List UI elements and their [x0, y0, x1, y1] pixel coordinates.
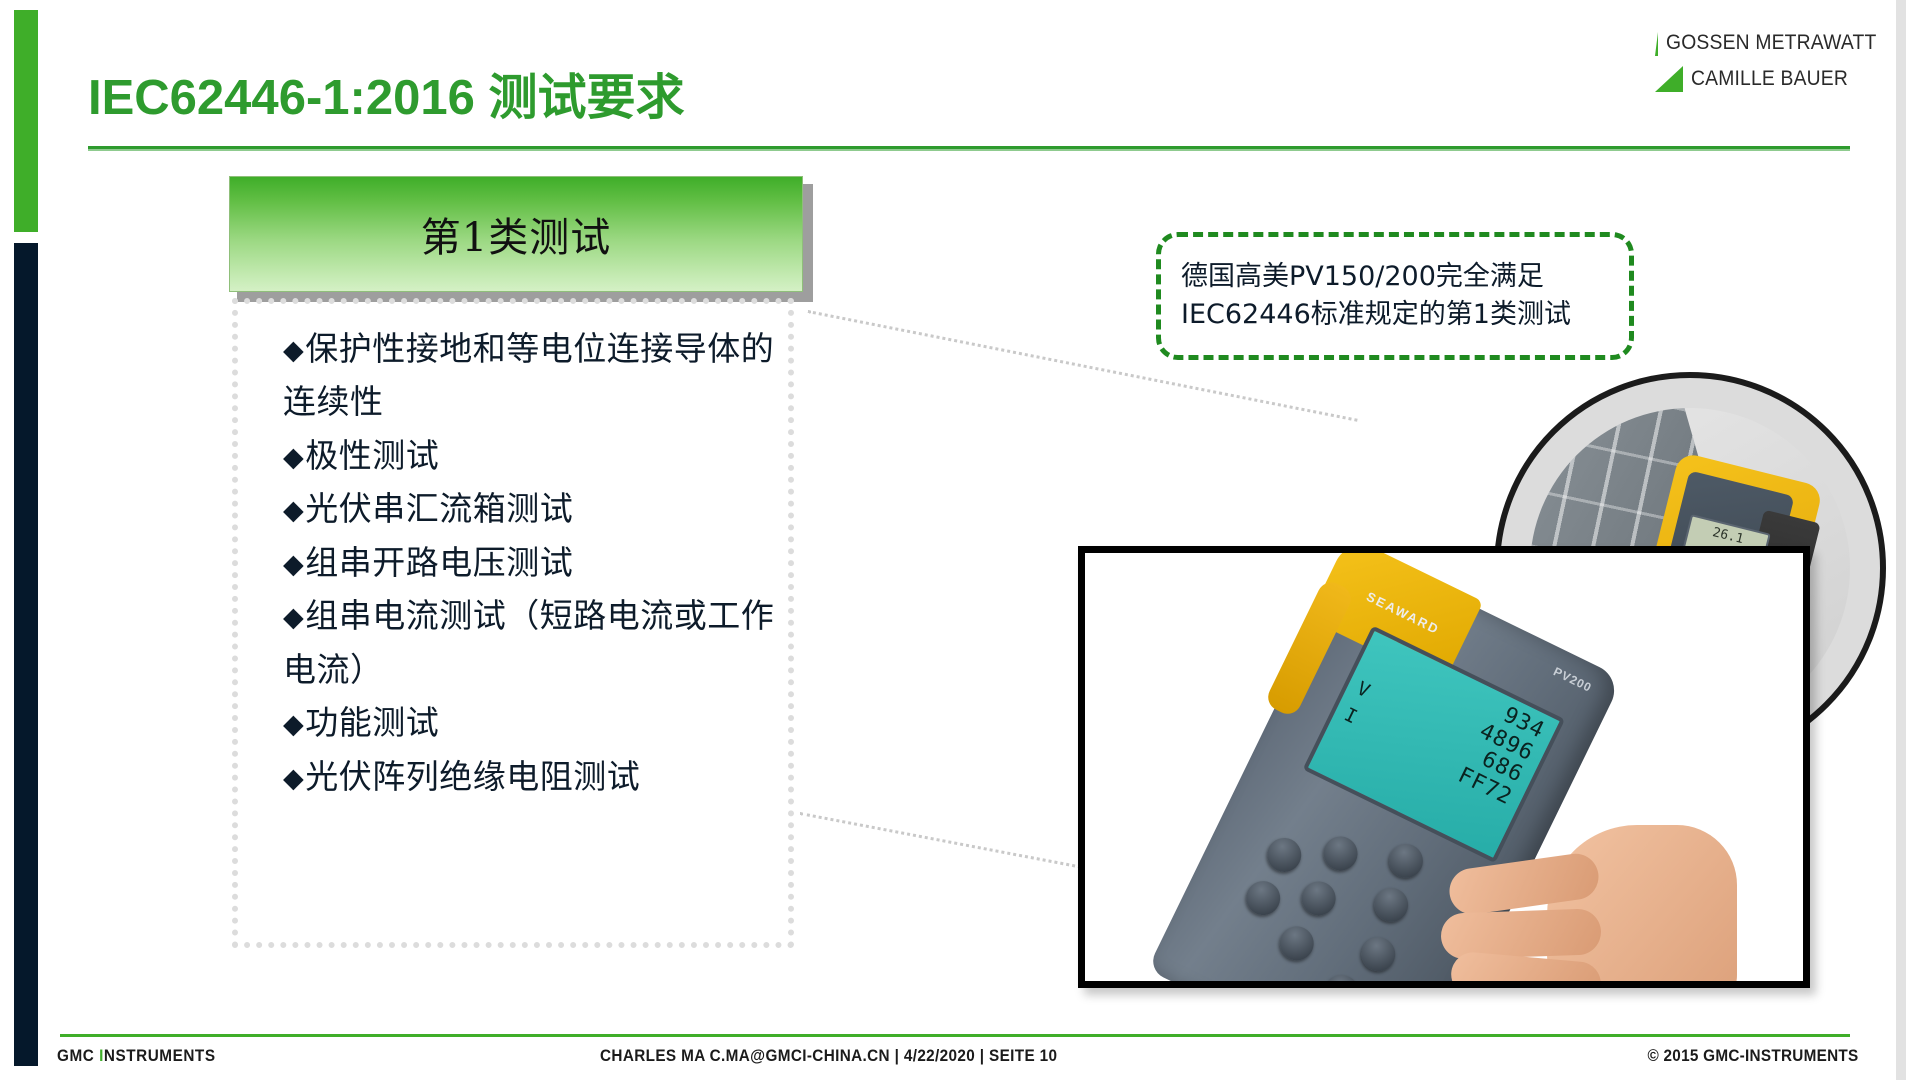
list-item: ◆极性测试 — [283, 429, 803, 482]
diamond-bullet-icon: ◆ — [283, 602, 304, 633]
list-item-label: 光伏串汇流箱测试 — [305, 489, 573, 528]
banner-body: 第1类测试 — [229, 176, 803, 292]
brand-name-gossen: GOSSEN METRAWATT — [1666, 31, 1876, 55]
list-item-label: 光伏阵列绝缘电阻测试 — [305, 757, 640, 796]
callout-text: 德国高美PV150/200完全满足 IEC62446标准规定的第1类测试 — [1161, 258, 1591, 335]
finger — [1468, 985, 1607, 988]
diamond-bullet-icon: ◆ — [283, 709, 304, 740]
brand-logo: GOSSEN METRAWATT CAMILLE BAUER — [1655, 30, 1895, 102]
list-item: ◆功能测试 — [283, 696, 803, 749]
list-item: ◆组串开路电压测试 — [283, 536, 803, 589]
meter-key — [1368, 882, 1413, 927]
right-edge-strip — [1896, 0, 1906, 1080]
connector-line-bottom — [800, 812, 1111, 874]
footer-copyright: © 2015 GMC-INSTRUMENTS — [1647, 1046, 1858, 1066]
list-item: ◆组串电流测试（短路电流或工作电流） — [283, 589, 803, 696]
left-edge-green-bar — [14, 10, 38, 232]
left-edge-navy-bar — [14, 243, 38, 1066]
list-item-label: 极性测试 — [305, 436, 439, 475]
callout-line-1: 德国高美PV150/200完全满足 — [1181, 258, 1571, 296]
triangle-icon — [1655, 30, 1658, 56]
meter-key — [1319, 969, 1364, 988]
diamond-bullet-icon: ◆ — [283, 442, 304, 473]
list-item-label: 组串电流测试（短路电流或工作电流） — [283, 596, 774, 688]
brand-logo-row-gossen: GOSSEN METRAWATT — [1655, 30, 1895, 56]
footer-brand-suffix: NSTRUMENTS — [104, 1046, 216, 1065]
slide-canvas: IEC62446-1:2016 测试要求 GOSSEN METRAWATT CA… — [0, 0, 1920, 1080]
footer-brand-prefix: GMC — [57, 1046, 99, 1065]
finger — [1440, 908, 1602, 960]
nfc-icon — [1382, 986, 1435, 988]
banner-label: 第1类测试 — [421, 205, 611, 263]
diamond-bullet-icon: ◆ — [283, 495, 304, 526]
meter-key — [1356, 931, 1401, 976]
footer-divider — [60, 1034, 1850, 1037]
callout-box: 德国高美PV150/200完全满足 IEC62446标准规定的第1类测试 — [1156, 232, 1634, 360]
diamond-bullet-icon: ◆ — [283, 763, 304, 794]
title-underline — [88, 146, 1850, 151]
meter-key — [1240, 875, 1285, 920]
framed-photo-pv200: SEAWARD PV200 934 4896 686 FF72 V I — [1078, 546, 1810, 988]
page-title: IEC62446-1:2016 测试要求 — [88, 58, 684, 129]
category-banner: 第1类测试 — [229, 176, 805, 294]
callout-line-2: IEC62446标准规定的第1类测试 — [1181, 296, 1571, 334]
meter-key — [1318, 831, 1363, 876]
hand-holding-device — [1437, 765, 1737, 988]
diamond-bullet-icon: ◆ — [283, 549, 304, 580]
meter-key — [1261, 832, 1306, 877]
brand-name-camille: CAMILLE BAUER — [1691, 67, 1848, 91]
diamond-bullet-icon: ◆ — [283, 335, 304, 366]
list-item: ◆光伏阵列绝缘电阻测试 — [283, 750, 803, 803]
list-item-label: 保护性接地和等电位连接导体的连续性 — [283, 329, 774, 421]
meter-key — [1296, 876, 1341, 921]
bullet-list: ◆保护性接地和等电位连接导体的连续性 ◆极性测试 ◆光伏串汇流箱测试 ◆组串开路… — [283, 322, 803, 803]
list-item-label: 组串开路电压测试 — [305, 543, 573, 582]
brand-logo-row-camille: CAMILLE BAUER — [1655, 66, 1895, 92]
list-item-label: 功能测试 — [305, 703, 439, 742]
meter-lcd-labels: V I — [1339, 675, 1374, 731]
list-item: ◆光伏串汇流箱测试 — [283, 482, 803, 535]
meter-key — [1274, 921, 1319, 966]
list-item: ◆保护性接地和等电位连接导体的连续性 — [283, 322, 803, 429]
footer-meta: CHARLES MA C.MA@GMCI-CHINA.CN | 4/22/202… — [600, 1046, 1057, 1066]
footer-brand: GMC INSTRUMENTS — [57, 1046, 216, 1066]
triangle-icon — [1655, 66, 1683, 92]
